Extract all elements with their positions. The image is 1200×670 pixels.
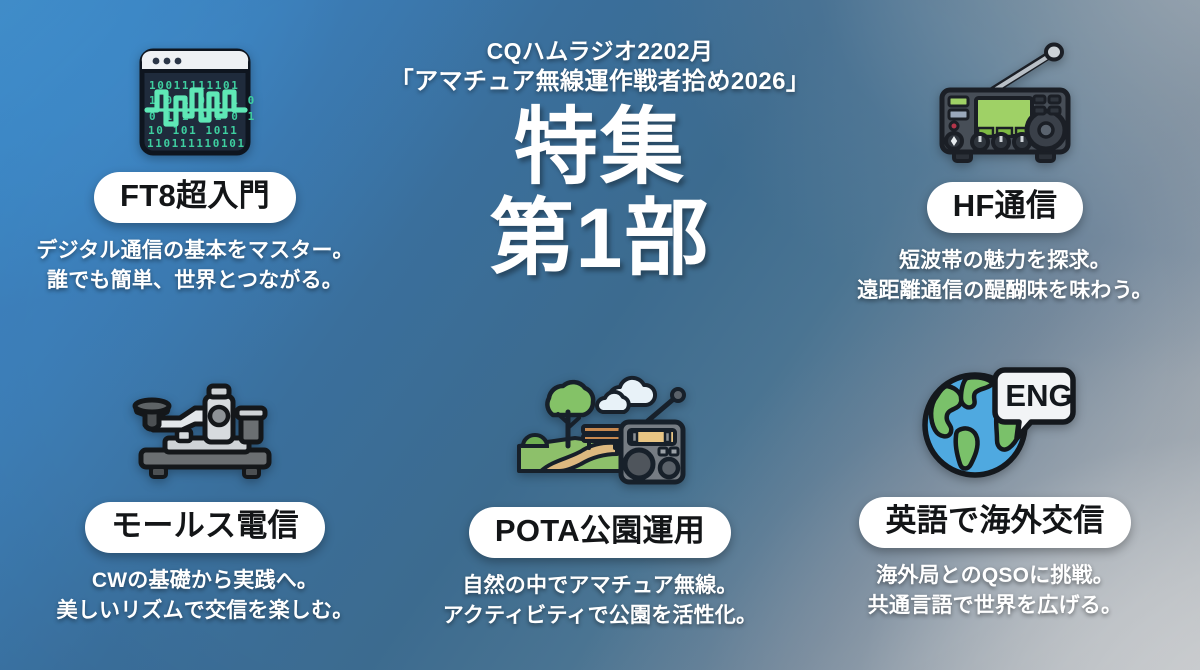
card-morse-title: モールス電信 <box>111 508 299 543</box>
card-hf-title: HF通信 <box>953 188 1058 223</box>
card-ft8[interactable]: 10011111101 1 0 1 0 1 1 0 0 1 1 0 1 0 1 … <box>10 46 380 295</box>
card-morse-pill[interactable]: モールス電信 <box>85 502 325 553</box>
card-hf[interactable]: HF通信 短波帯の魅力を探求。 遠距離通信の醍醐味を味わう。 <box>820 38 1190 305</box>
card-pota-title: POTA公園運用 <box>495 513 705 548</box>
card-ft8-description: デジタル通信の基本をマスター。 誰でも簡単、世界とつながる。 <box>36 236 353 296</box>
card-eng[interactable]: ENG 英語で海外交信 海外局とのQSOに挑戦。 共通言語で世界を広げる。 <box>810 358 1180 620</box>
morse-key-icon <box>125 378 285 488</box>
globe-eng-bubble-icon: ENG <box>913 358 1078 483</box>
card-hf-desc-line-2: 遠距離通信の醍醐味を味わう。 <box>857 276 1153 306</box>
center-headline-block: CQハムラジオ2202月 「アマチュア無線運作戦者拾め2026」 特集 第1部 <box>340 36 860 280</box>
card-eng-desc-line-2: 共通言語で世界を広げる。 <box>868 591 1122 621</box>
card-ft8-desc-line-1: デジタル通信の基本をマスター。 <box>36 236 353 266</box>
card-morse-desc-line-1: CWの基礎から実践へ。 <box>57 566 354 596</box>
card-ft8-title: FT8超入門 <box>120 178 270 213</box>
card-pota[interactable]: POTA公園運用 自然の中でアマチュア無線。 アクティビティで公園を活性化。 <box>415 368 785 630</box>
card-hf-desc-line-1: 短波帯の魅力を探求。 <box>857 246 1153 276</box>
card-eng-pill[interactable]: 英語で海外交信 <box>859 497 1130 548</box>
kicker-line-1: CQハムラジオ2202月 <box>340 36 860 66</box>
waterfall-window-icon: 10011111101 1 0 1 0 1 1 0 0 1 1 0 1 0 1 … <box>135 46 255 158</box>
card-eng-description: 海外局とのQSOに挑戦。 共通言語で世界を広げる。 <box>868 561 1122 621</box>
poster-stage: CQハムラジオ2202月 「アマチュア無線運作戦者拾め2026」 特集 第1部 … <box>0 0 1200 670</box>
card-ft8-pill[interactable]: FT8超入門 <box>94 172 296 223</box>
headline-line-2: 第1部 <box>340 197 860 280</box>
card-pota-desc-line-2: アクティビティで公園を活性化。 <box>443 601 757 631</box>
card-hf-pill[interactable]: HF通信 <box>927 182 1084 233</box>
card-morse[interactable]: モールス電信 CWの基礎から実践へ。 美しいリズムで交信を楽しむ。 <box>20 378 390 625</box>
eng-bubble-label: ENG <box>1005 378 1072 413</box>
card-eng-title: 英語で海外交信 <box>885 503 1104 538</box>
card-pota-description: 自然の中でアマチュア無線。 アクティビティで公園を活性化。 <box>443 571 757 631</box>
headline-line-1: 特集 <box>340 106 860 189</box>
hf-transceiver-icon <box>920 38 1090 168</box>
svg-text:10 101 1011: 10 101 1011 <box>148 124 238 137</box>
card-eng-desc-line-1: 海外局とのQSOに挑戦。 <box>868 561 1122 591</box>
card-morse-desc-line-2: 美しいリズムで交信を楽しむ。 <box>57 596 354 626</box>
kicker-line-2: 「アマチュア無線運作戦者拾め2026」 <box>340 66 860 98</box>
card-ft8-desc-line-2: 誰でも簡単、世界とつながる。 <box>36 266 353 296</box>
svg-text:110111110101: 110111110101 <box>147 137 246 150</box>
card-pota-pill[interactable]: POTA公園運用 <box>469 507 731 558</box>
park-radio-icon <box>513 368 688 493</box>
card-hf-description: 短波帯の魅力を探求。 遠距離通信の醍醐味を味わう。 <box>857 246 1153 306</box>
card-morse-description: CWの基礎から実践へ。 美しいリズムで交信を楽しむ。 <box>57 566 354 626</box>
card-pota-desc-line-1: 自然の中でアマチュア無線。 <box>443 571 757 601</box>
